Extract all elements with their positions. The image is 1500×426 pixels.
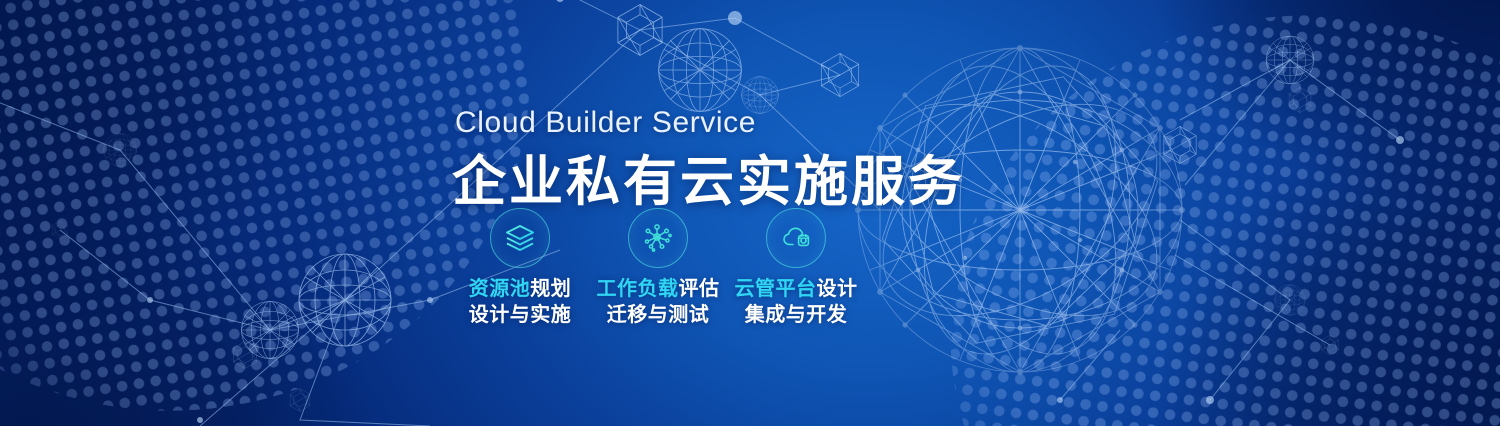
banner-content: Cloud Builder Service 企业私有云实施服务: [0, 0, 1500, 426]
feature-label-plain: 评估: [679, 278, 720, 300]
layers-stack-icon: [490, 208, 550, 268]
feature-label-accent: 资源池: [469, 278, 531, 300]
feature-label-line2: 迁移与测试: [597, 303, 720, 329]
feature-label: 云管平台设计 集成与开发: [735, 277, 858, 328]
feature-label-line2: 设计与实施: [469, 303, 572, 329]
feature-label-plain: 规划: [530, 278, 571, 300]
feature-label: 工作负载评估 迁移与测试: [597, 277, 720, 328]
feature-item-resource-pool[interactable]: 资源池规划 设计与实施: [452, 208, 588, 328]
cloud-gear-icon: [766, 208, 826, 268]
banner-headline: 企业私有云实施服务: [452, 137, 965, 216]
feature-label-accent: 云管平台: [735, 278, 817, 300]
feature-label-accent: 工作负载: [597, 278, 679, 300]
feature-label: 资源池规划 设计与实施: [469, 277, 572, 328]
feature-item-cloud-platform[interactable]: 云管平台设计 集成与开发: [728, 208, 864, 328]
feature-list: 资源池规划 设计与实施: [452, 208, 864, 328]
feature-label-plain: 设计: [817, 278, 858, 300]
hero-banner: Cloud Builder Service 企业私有云实施服务: [0, 0, 1500, 426]
feature-item-workload[interactable]: 工作负载评估 迁移与测试: [590, 208, 726, 328]
banner-eyebrow: Cloud Builder Service: [455, 106, 756, 140]
network-hub-icon: [628, 208, 688, 268]
feature-label-line2: 集成与开发: [735, 303, 858, 329]
